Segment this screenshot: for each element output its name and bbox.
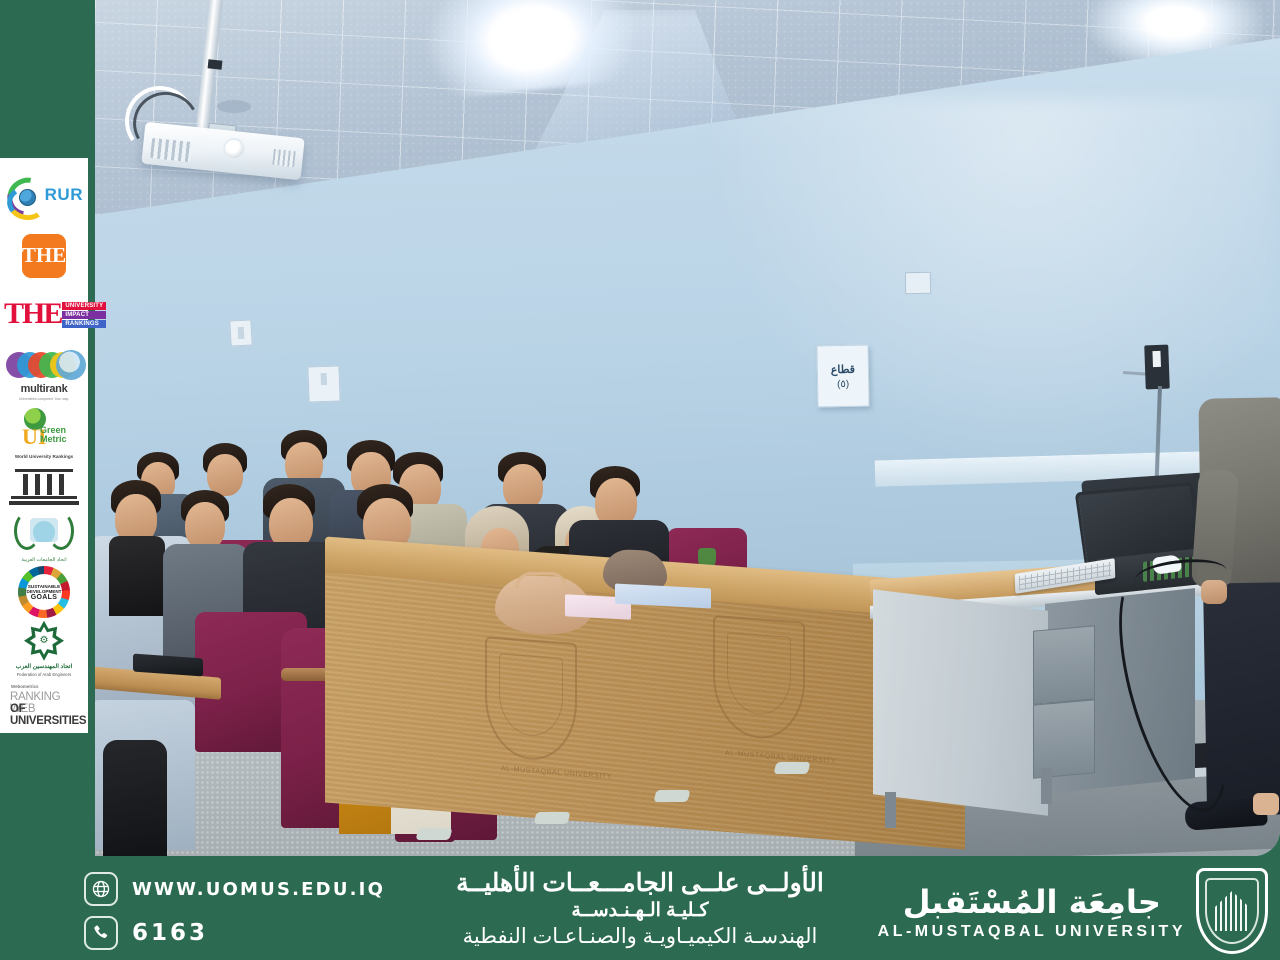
- multirank-logo: multirank Universities compared. Your wa…: [4, 344, 84, 403]
- sdg-line1: SUSTAINABLE DEVELOPMENT: [26, 584, 62, 594]
- desk-drawer-bottom[interactable]: [1033, 699, 1095, 778]
- wreath-icon: اتحاد الجامعات العربية: [8, 510, 80, 562]
- the-impact-line2: IMPACT: [62, 311, 106, 319]
- brand-name-arabic: جامِعَة المُسْتَقبل: [878, 881, 1186, 923]
- brand-name-english: AL-MUSTAQBAL UNIVERSITY: [878, 923, 1186, 941]
- arab-engineers-english: Federation of Arab Engineers: [8, 672, 80, 677]
- wall-sign-sector: قطاع (٥): [816, 345, 869, 408]
- arab-universities-text: اتحاد الجامعات العربية: [8, 557, 80, 563]
- sdg-wheel-icon: SUSTAINABLE DEVELOPMENT GOALS: [18, 566, 70, 618]
- the-impact-line3: RANKINGS: [62, 320, 106, 328]
- wall-outlet-left: [307, 365, 340, 402]
- sdg-logo: SUSTAINABLE DEVELOPMENT GOALS: [4, 565, 84, 620]
- arab-engineers-logo: ⚙ اتحاد المهندسين العرب Federation of Ar…: [4, 619, 84, 680]
- crest-inner-border: [1205, 878, 1259, 944]
- the-impact-rankings-logo: THE UNIVERSITY IMPACT RANKINGS: [4, 285, 84, 344]
- front-desk-panel: AL-MUSTAQBAL UNIVERSITY AL-MUSTAQBAL UNI…: [325, 573, 965, 850]
- wall-outlet-upper-left: [229, 319, 252, 346]
- lecture-hall-photo: قطاع (٥): [95, 0, 1280, 856]
- crest-dome-shape: [1215, 891, 1249, 931]
- arab-engineers-arabic: اتحاد المهندسين العرب: [8, 663, 80, 670]
- multirank-logo-text: multirank: [4, 383, 84, 395]
- wall-switch-plate: [905, 272, 931, 294]
- handbag-strap: [515, 572, 567, 588]
- desk-drawer-top[interactable]: [1033, 625, 1095, 704]
- desk-foot-1: [416, 828, 453, 840]
- university-crest-icon: [1196, 868, 1268, 954]
- ui-greenmetric-logo: UI Green Metric World University Ranking…: [4, 403, 84, 466]
- arab-universities-logo: اتحاد الجامعات العربية: [4, 508, 84, 565]
- desk-foot-3: [654, 790, 691, 802]
- multirank-tagline: Universities compared. Your way.: [4, 397, 84, 401]
- poster-root: قطاع (٥): [0, 0, 1280, 960]
- footer-bar: WWW.UOMUS.EDU.IQ 6163 الأولــى علــى الج…: [0, 856, 1280, 960]
- university-brand: جامِعَة المُسْتَقبل AL-MUSTAQBAL UNIVERS…: [878, 868, 1268, 954]
- rur-logo-text: RUR: [45, 185, 83, 205]
- rur-logo: RUR: [4, 168, 84, 227]
- webometrics-line2: OF UNIVERSITIES: [10, 703, 86, 727]
- rankings-logo-panel: RUR THE THE UNIVERSITY IMPACT RANKINGS: [0, 158, 88, 733]
- desk-foot-4: [774, 762, 811, 774]
- greenmetric-subtitle: World University Rankings: [4, 454, 84, 459]
- instructor-desk-side-panel: [873, 589, 1048, 815]
- desk-leg-right: [1041, 768, 1052, 804]
- wall-bracket: [1144, 345, 1170, 390]
- desk-wood-grain: [325, 573, 965, 850]
- projector-pole-band: [208, 59, 223, 69]
- projector-vent-right: [272, 149, 296, 167]
- smoke-detector-icon: [217, 100, 251, 113]
- wall-sign-bottom-text: (٥): [837, 378, 849, 389]
- greenmetric-metric-text: Metric: [40, 434, 67, 444]
- desk-leg-left: [885, 792, 896, 828]
- the-logo: THE: [4, 227, 84, 286]
- sdg-line2: GOALS: [31, 594, 57, 601]
- webometrics-kicker: Webometrics: [11, 684, 39, 689]
- the-impact-line1: UNIVERSITY: [62, 302, 106, 310]
- classical-building-logo: [4, 465, 84, 508]
- building-icon: [9, 469, 79, 505]
- the-logo-text: THE: [22, 234, 66, 278]
- standing-person-heel: [1253, 793, 1279, 815]
- webometrics-logo: Webometrics RANKING WEB OF UNIVERSITIES: [4, 680, 84, 723]
- brand-text: جامِعَة المُسْتَقبل AL-MUSTAQBAL UNIVERS…: [878, 881, 1186, 941]
- desk-foot-2: [534, 812, 571, 824]
- wall-sign-top-text: قطاع: [831, 362, 855, 375]
- projector-vent-left: [150, 138, 192, 162]
- the-impact-mark: THE: [4, 296, 61, 334]
